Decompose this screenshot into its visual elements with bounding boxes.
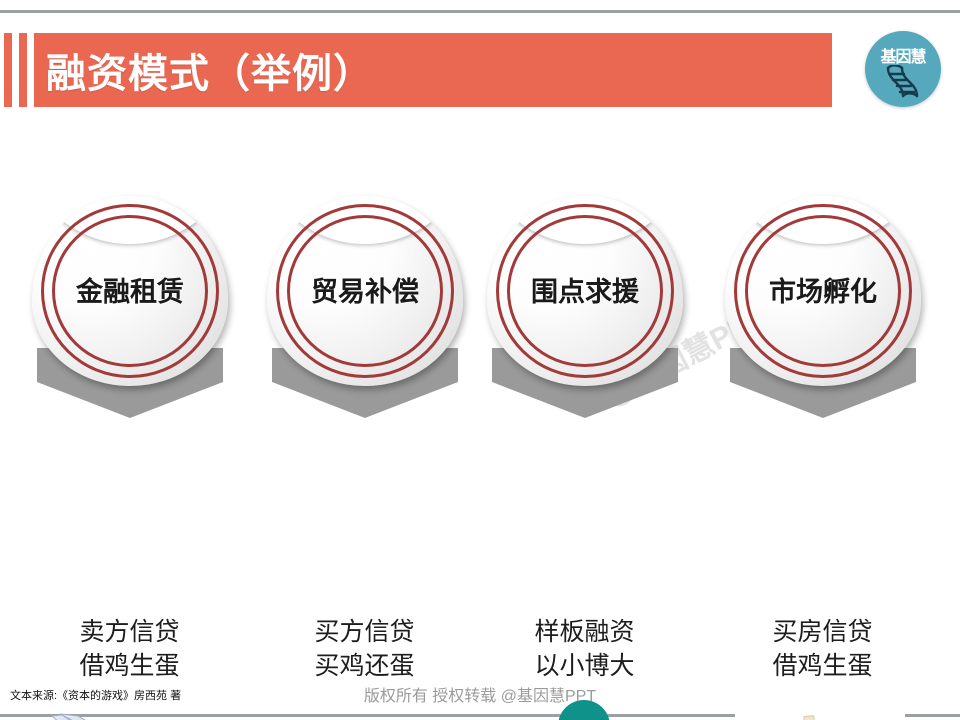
header: 融资模式（举例） — [0, 33, 960, 107]
column-market-incubation: 市场孵化 买房信贷 借鸡生蛋 — [715, 196, 930, 411]
header-accent-bar-1 — [4, 33, 12, 107]
brand-logo: 基因慧 — [865, 31, 941, 107]
badge-wrap: 贸易补偿 — [257, 196, 472, 411]
caption-line-2: 以小博大 — [477, 650, 692, 684]
slide-top-border — [0, 10, 960, 13]
caption-line-2: 借鸡生蛋 — [715, 650, 930, 684]
badge-wrap: 围点求援 — [477, 196, 692, 411]
caption-line-2: 借鸡生蛋 — [22, 650, 237, 684]
caption: 买方信贷 买鸡还蛋 — [257, 616, 472, 683]
badge[interactable]: 金融租赁 — [32, 196, 228, 386]
caption-line-1: 买房信贷 — [715, 616, 930, 650]
column-financial-lease: 金融租赁 卖方信贷 借鸡生蛋 — [22, 196, 237, 411]
column-trade-compensation: 贸易补偿 买方信贷 买鸡还蛋 — [257, 196, 472, 411]
dna-helix-icon — [883, 65, 923, 99]
title-banner: 融资模式（举例） — [34, 33, 832, 107]
caption-line-1: 卖方信贷 — [22, 616, 237, 650]
badge-label: 围点求援 — [487, 270, 683, 309]
caption: 样板融资 以小博大 — [477, 616, 692, 683]
badge[interactable]: 围点求援 — [487, 196, 683, 386]
page-title: 融资模式（举例） — [46, 41, 374, 99]
column-siege-rescue: 围点求援 样板融资 以小博大 — [477, 196, 692, 411]
badge-label: 金融租赁 — [32, 270, 228, 309]
logo-text: 基因慧 — [865, 43, 941, 67]
header-accent-bar-2 — [19, 33, 27, 107]
badge-wrap: 金融租赁 — [22, 196, 237, 411]
badge[interactable]: 贸易补偿 — [267, 196, 463, 386]
footer-copyright: 版权所有 授权转载 @基因慧PPT — [0, 682, 960, 706]
caption: 卖方信贷 借鸡生蛋 — [22, 616, 237, 683]
badge[interactable]: 市场孵化 — [725, 196, 921, 386]
badge-wrap: 市场孵化 — [715, 196, 930, 411]
caption-line-2: 买鸡还蛋 — [257, 650, 472, 684]
caption-line-1: 样板融资 — [477, 616, 692, 650]
badge-label: 市场孵化 — [725, 270, 921, 309]
caption: 买房信贷 借鸡生蛋 — [715, 616, 930, 683]
badge-label: 贸易补偿 — [267, 270, 463, 309]
caption-line-1: 买方信贷 — [257, 616, 472, 650]
slide: 融资模式（举例） 基因慧 @基因慧PPT — [0, 0, 960, 720]
